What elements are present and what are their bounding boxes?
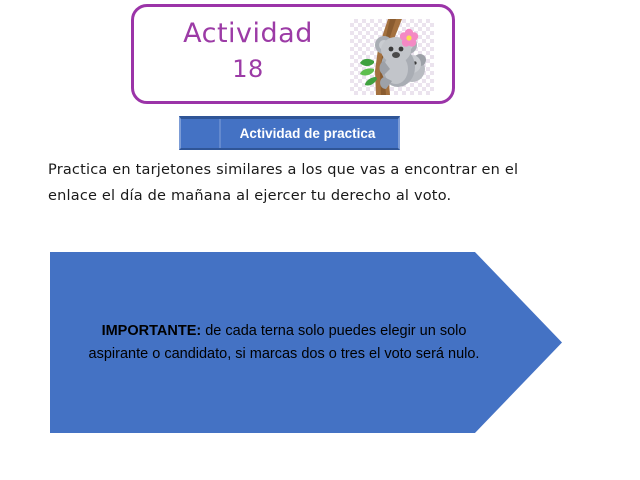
activity-number: 18 xyxy=(148,53,348,85)
activity-title-text: Actividad 18 xyxy=(148,15,348,85)
activity-title-heading: Actividad xyxy=(148,15,348,53)
koala-illustration xyxy=(350,19,434,95)
important-lead-label: IMPORTANTE: xyxy=(102,323,202,339)
practice-activity-label: Actividad de practica xyxy=(221,119,398,148)
instruction-paragraph: Practica en tarjetones similares a los q… xyxy=(48,157,568,209)
banner-left-cell xyxy=(181,119,221,148)
important-callout-text: IMPORTANTE: de cada terna solo puedes el… xyxy=(64,252,504,433)
practice-activity-banner: Actividad de practica xyxy=(179,116,400,150)
important-arrow-callout: IMPORTANTE: de cada terna solo puedes el… xyxy=(50,252,562,433)
activity-title-card: Actividad 18 xyxy=(131,4,455,104)
